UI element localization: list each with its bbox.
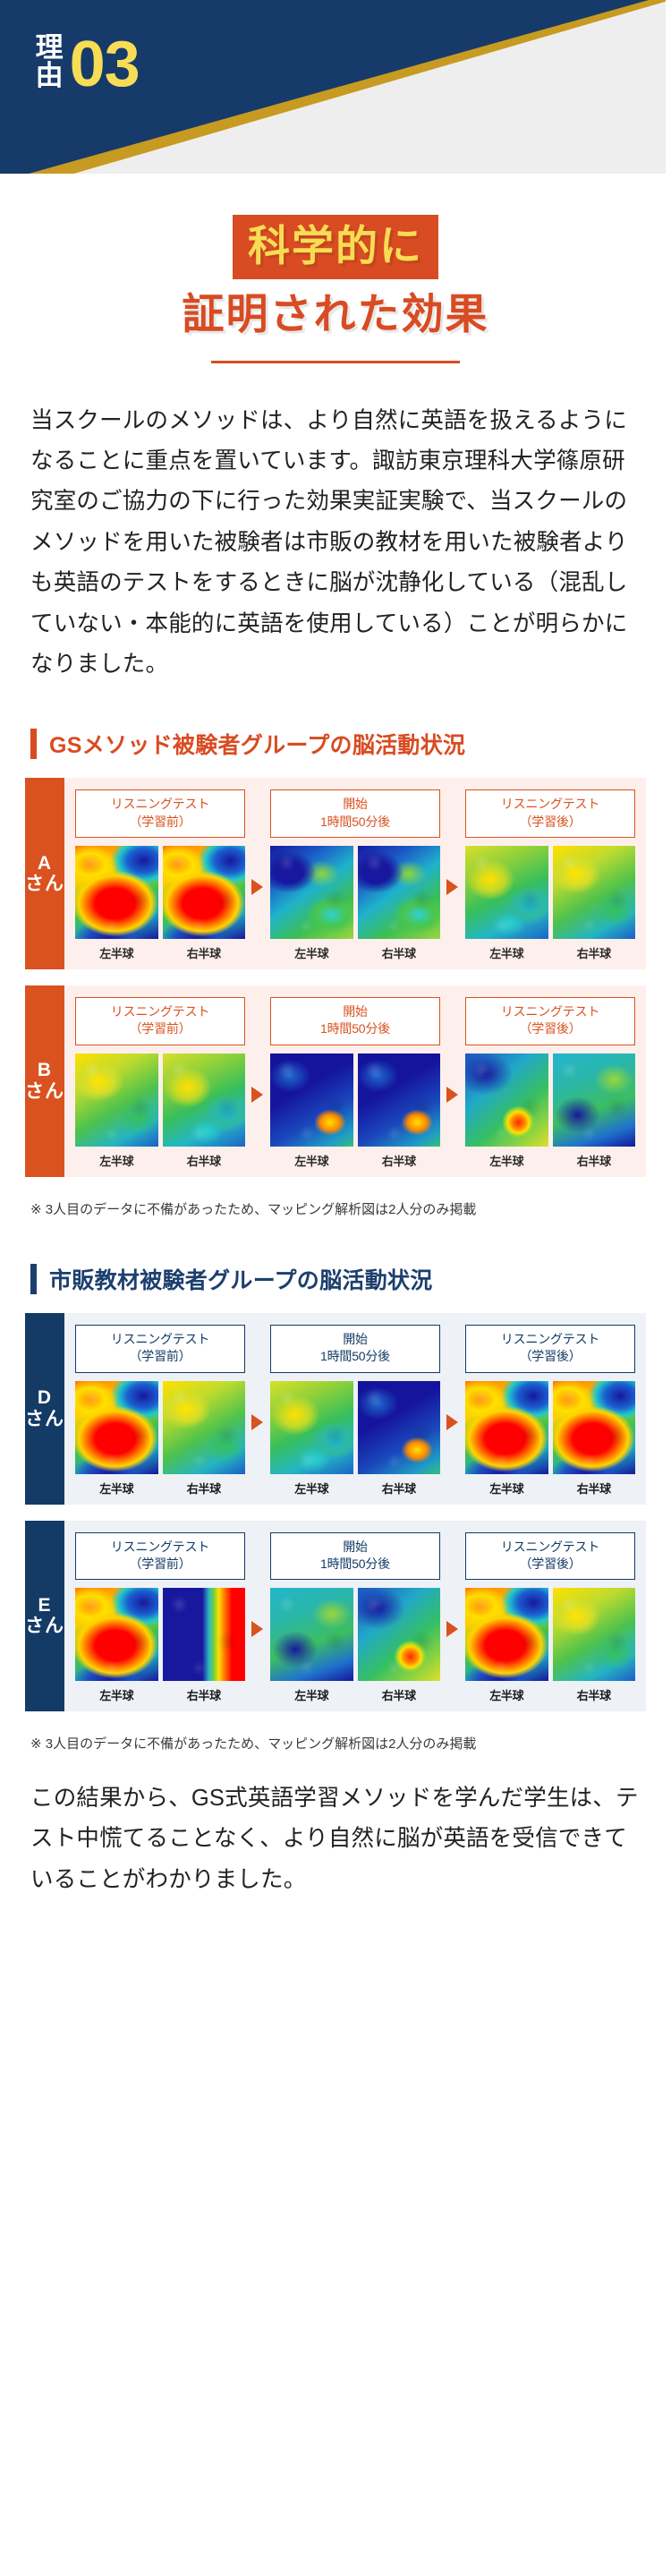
phase-label: 開始1時間50分後	[270, 1532, 440, 1581]
hemisphere-label: 左半球	[75, 944, 158, 961]
scan-left-hemisphere: 左半球	[270, 1588, 353, 1703]
phase-label: 開始1時間50分後	[270, 1325, 440, 1373]
subject-card: Bさんリスニングテスト（学習前）左半球右半球開始1時間50分後左半球右半球リスニ…	[25, 985, 646, 1177]
subject-suffix: さん	[25, 1081, 64, 1103]
progress-arrow-icon	[446, 1414, 459, 1430]
intro-paragraph: 当スクールのメソッドは、より自然に英語を扱えるようになることに重点を置いています…	[0, 401, 671, 686]
phase-label-line1: リスニングテスト	[501, 797, 599, 811]
scan-row: 左半球右半球	[270, 1381, 440, 1497]
reason-banner: 理由 03	[0, 0, 671, 195]
sections-root: GSメソッド被験者グループの脳活動状況Aさんリスニングテスト（学習前）左半球右半…	[0, 728, 671, 1755]
scan-right-hemisphere: 右半球	[163, 1053, 246, 1169]
progress-arrow-icon	[446, 1621, 459, 1637]
phase-column: リスニングテスト（学習前）左半球右半球	[75, 789, 245, 961]
scan-row: 左半球右半球	[465, 1053, 635, 1169]
title-subline: 証明された効果	[0, 291, 671, 337]
brain-heatmap-image	[358, 1053, 441, 1147]
scan-row: 左半球右半球	[270, 1053, 440, 1169]
hemisphere-label: 左半球	[75, 1686, 158, 1703]
hemisphere-label: 左半球	[465, 1686, 548, 1703]
scan-row: 左半球右半球	[75, 1053, 245, 1169]
title-highlight: 科学的に	[233, 215, 438, 279]
progress-arrow-icon	[446, 879, 459, 895]
subject-card-body: リスニングテスト（学習前）左半球右半球開始1時間50分後左半球右半球リスニングテ…	[64, 1521, 646, 1712]
banner-bottom-mask	[0, 174, 671, 195]
scan-right-hemisphere: 右半球	[358, 1588, 441, 1703]
section-footnote: ※ 3人目のデータに不備があったため、マッピング解析図は2人分のみ掲載	[0, 1193, 671, 1221]
scan-right-hemisphere: 右半球	[358, 846, 441, 961]
phase-label-line2: （学習後）	[520, 1349, 582, 1363]
hemisphere-label: 右半球	[163, 1152, 246, 1169]
subject-suffix: さん	[25, 1409, 64, 1430]
phase-column: リスニングテスト（学習前）左半球右半球	[75, 997, 245, 1169]
phase-label-line2: （学習前）	[130, 1021, 191, 1036]
hemisphere-label: 右半球	[163, 944, 246, 961]
scan-left-hemisphere: 左半球	[270, 846, 353, 961]
phase-label: リスニングテスト（学習前）	[75, 789, 245, 838]
phase-label-line1: 開始	[343, 797, 368, 811]
phase-label-line1: リスニングテスト	[501, 1004, 599, 1019]
scan-left-hemisphere: 左半球	[75, 1053, 158, 1169]
scan-row: 左半球右半球	[75, 846, 245, 961]
hemisphere-label: 右半球	[358, 1152, 441, 1169]
scan-right-hemisphere: 右半球	[358, 1381, 441, 1497]
phase-label-line1: リスニングテスト	[111, 1332, 209, 1346]
subject-card-body: リスニングテスト（学習前）左半球右半球開始1時間50分後左半球右半球リスニングテ…	[64, 778, 646, 969]
banner-right-mask	[666, 0, 671, 195]
subject-initial: D	[38, 1387, 52, 1409]
brain-heatmap-image	[270, 1381, 353, 1474]
scan-right-hemisphere: 右半球	[553, 846, 636, 961]
brain-heatmap-image	[553, 1053, 636, 1147]
subject-card-body: リスニングテスト（学習前）左半球右半球開始1時間50分後左半球右半球リスニングテ…	[64, 985, 646, 1177]
subject-card-zone: Aさんリスニングテスト（学習前）左半球右半球開始1時間50分後左半球右半球リスニ…	[0, 778, 671, 1176]
hemisphere-label: 左半球	[75, 1152, 158, 1169]
phase-label-line1: リスニングテスト	[111, 1540, 209, 1554]
brain-heatmap-image	[465, 1588, 548, 1681]
phase-label-line1: リスニングテスト	[501, 1540, 599, 1554]
progress-arrow-icon	[446, 1087, 459, 1103]
progress-arrow-icon	[251, 1087, 264, 1103]
hemisphere-label: 左半球	[270, 1152, 353, 1169]
subject-card: Dさんリスニングテスト（学習前）左半球右半球開始1時間50分後左半球右半球リスニ…	[25, 1313, 646, 1505]
phase-label-line2: （学習前）	[130, 1349, 191, 1363]
phase-column: リスニングテスト（学習前）左半球右半球	[75, 1325, 245, 1497]
scan-left-hemisphere: 左半球	[465, 846, 548, 961]
hemisphere-label: 左半球	[75, 1480, 158, 1497]
phase-label: 開始1時間50分後	[270, 789, 440, 838]
phase-column: リスニングテスト（学習後）左半球右半球	[465, 789, 635, 961]
brain-heatmap-image	[270, 846, 353, 939]
phase-column: リスニングテスト（学習後）左半球右半球	[465, 1532, 635, 1704]
brain-heatmap-image	[465, 1053, 548, 1147]
phase-label: リスニングテスト（学習前）	[75, 1325, 245, 1373]
scan-right-hemisphere: 右半球	[553, 1053, 636, 1169]
phase-column: リスニングテスト（学習後）左半球右半球	[465, 997, 635, 1169]
scan-row: 左半球右半球	[465, 1381, 635, 1497]
scan-row: 左半球右半球	[75, 1588, 245, 1703]
brain-heatmap-image	[465, 1381, 548, 1474]
brain-heatmap-image	[358, 1381, 441, 1474]
scan-row: 左半球右半球	[465, 1588, 635, 1703]
phase-label-line2: 1時間50分後	[320, 1021, 390, 1036]
outro-paragraph: この結果から、GS式英語学習メソッドを学んだ学生は、テスト中慌てることなく、より…	[0, 1778, 671, 1936]
brain-heatmap-image	[270, 1588, 353, 1681]
page-title: 科学的に 証明された効果	[0, 195, 671, 363]
brain-heatmap-image	[553, 846, 636, 939]
section-title: 市販教材被験者グループの脳活動状況	[49, 1263, 433, 1295]
scan-right-hemisphere: 右半球	[553, 1381, 636, 1497]
brain-heatmap-image	[163, 846, 246, 939]
phase-label: 開始1時間50分後	[270, 997, 440, 1045]
hemisphere-label: 右半球	[358, 1480, 441, 1497]
phase-label: リスニングテスト（学習前）	[75, 1532, 245, 1581]
phase-label: リスニングテスト（学習後）	[465, 1325, 635, 1373]
brain-heatmap-image	[270, 1053, 353, 1147]
hemisphere-label: 左半球	[270, 1686, 353, 1703]
subject-name-tab: Bさん	[25, 985, 64, 1177]
section-title: GSメソッド被験者グループの脳活動状況	[49, 728, 465, 760]
scan-row: 左半球右半球	[270, 846, 440, 961]
subject-initial: A	[38, 853, 52, 874]
scan-left-hemisphere: 左半球	[465, 1053, 548, 1169]
phase-label-line1: リスニングテスト	[111, 1004, 209, 1019]
scan-right-hemisphere: 右半球	[358, 1053, 441, 1169]
brain-heatmap-image	[75, 1381, 158, 1474]
reason-label: 理由	[32, 32, 61, 93]
phase-label-line1: 開始	[343, 1540, 368, 1554]
scan-left-hemisphere: 左半球	[270, 1053, 353, 1169]
section-heading: 市販教材被験者グループの脳活動状況	[0, 1263, 671, 1295]
phase-column: リスニングテスト（学習前）左半球右半球	[75, 1532, 245, 1704]
title-divider	[211, 361, 460, 363]
phase-label-line2: （学習後）	[520, 815, 582, 829]
phase-label-line2: （学習前）	[130, 1557, 191, 1571]
hemisphere-label: 右半球	[163, 1686, 246, 1703]
progress-arrow-icon	[251, 1621, 264, 1637]
brain-heatmap-image	[553, 1588, 636, 1681]
phase-label-line1: 開始	[343, 1004, 368, 1019]
section-footnote: ※ 3人目のデータに不備があったため、マッピング解析図は2人分のみ掲載	[0, 1727, 671, 1755]
subject-name-tab: Aさん	[25, 778, 64, 969]
phase-column: 開始1時間50分後左半球右半球	[270, 789, 440, 961]
hemisphere-label: 左半球	[270, 944, 353, 961]
scan-left-hemisphere: 左半球	[465, 1381, 548, 1497]
scan-row: 左半球右半球	[270, 1588, 440, 1703]
scan-right-hemisphere: 右半球	[163, 1381, 246, 1497]
scan-row: 左半球右半球	[465, 846, 635, 961]
phase-label-line2: 1時間50分後	[320, 1349, 390, 1363]
hemisphere-label: 右半球	[163, 1480, 246, 1497]
subject-suffix: さん	[25, 874, 64, 895]
progress-arrow-icon	[251, 1414, 264, 1430]
brain-heatmap-image	[465, 846, 548, 939]
brain-heatmap-image	[553, 1381, 636, 1474]
brain-heatmap-image	[75, 1588, 158, 1681]
phase-label: リスニングテスト（学習後）	[465, 1532, 635, 1581]
subject-card: Aさんリスニングテスト（学習前）左半球右半球開始1時間50分後左半球右半球リスニ…	[25, 778, 646, 969]
brain-heatmap-image	[163, 1381, 246, 1474]
scan-left-hemisphere: 左半球	[75, 1381, 158, 1497]
phase-column: 開始1時間50分後左半球右半球	[270, 1532, 440, 1704]
hemisphere-label: 右半球	[553, 1152, 636, 1169]
phase-label-line2: （学習後）	[520, 1557, 582, 1571]
phase-column: 開始1時間50分後左半球右半球	[270, 997, 440, 1169]
title-highlight-row: 科学的に	[0, 215, 671, 279]
phase-label-line2: 1時間50分後	[320, 1557, 390, 1571]
subject-card: Eさんリスニングテスト（学習前）左半球右半球開始1時間50分後左半球右半球リスニ…	[25, 1521, 646, 1712]
phase-label-line1: リスニングテスト	[501, 1332, 599, 1346]
section-accent-bar	[30, 1264, 37, 1294]
phase-label-line2: 1時間50分後	[320, 815, 390, 829]
scan-left-hemisphere: 左半球	[270, 1381, 353, 1497]
brain-heatmap-image	[75, 846, 158, 939]
phase-label-line2: （学習前）	[130, 815, 191, 829]
scan-right-hemisphere: 右半球	[553, 1588, 636, 1703]
hemisphere-label: 右半球	[358, 1686, 441, 1703]
phase-label: リスニングテスト（学習後）	[465, 789, 635, 838]
subject-card-zone: Dさんリスニングテスト（学習前）左半球右半球開始1時間50分後左半球右半球リスニ…	[0, 1313, 671, 1711]
phase-label: リスニングテスト（学習後）	[465, 997, 635, 1045]
hemisphere-label: 左半球	[465, 1480, 548, 1497]
hemisphere-label: 右半球	[553, 944, 636, 961]
subject-name-tab: Dさん	[25, 1313, 64, 1505]
hemisphere-label: 右半球	[553, 1686, 636, 1703]
phase-label: リスニングテスト（学習前）	[75, 997, 245, 1045]
progress-arrow-icon	[251, 879, 264, 895]
scan-left-hemisphere: 左半球	[465, 1588, 548, 1703]
hemisphere-label: 左半球	[270, 1480, 353, 1497]
subject-initial: B	[38, 1060, 52, 1081]
phase-label-line2: （学習後）	[520, 1021, 582, 1036]
phase-column: リスニングテスト（学習後）左半球右半球	[465, 1325, 635, 1497]
scan-right-hemisphere: 右半球	[163, 846, 246, 961]
scan-left-hemisphere: 左半球	[75, 846, 158, 961]
hemisphere-label: 左半球	[465, 944, 548, 961]
scan-left-hemisphere: 左半球	[75, 1588, 158, 1703]
subject-initial: E	[38, 1595, 51, 1616]
phase-label-line1: リスニングテスト	[111, 797, 209, 811]
brain-heatmap-image	[163, 1053, 246, 1147]
subject-suffix: さん	[25, 1616, 64, 1637]
scan-row: 左半球右半球	[75, 1381, 245, 1497]
subject-card-body: リスニングテスト（学習前）左半球右半球開始1時間50分後左半球右半球リスニングテ…	[64, 1313, 646, 1505]
section-accent-bar	[30, 729, 37, 759]
subject-name-tab: Eさん	[25, 1521, 64, 1712]
brain-heatmap-image	[75, 1053, 158, 1147]
scan-right-hemisphere: 右半球	[163, 1588, 246, 1703]
hemisphere-label: 右半球	[358, 944, 441, 961]
hemisphere-label: 右半球	[553, 1480, 636, 1497]
phase-label-line1: 開始	[343, 1332, 368, 1346]
reason-number: 03	[70, 37, 140, 93]
brain-heatmap-image	[358, 1588, 441, 1681]
hemisphere-label: 左半球	[465, 1152, 548, 1169]
banner-content: 理由 03	[32, 32, 140, 93]
phase-column: 開始1時間50分後左半球右半球	[270, 1325, 440, 1497]
brain-heatmap-image	[163, 1588, 246, 1681]
brain-heatmap-image	[358, 846, 441, 939]
section-heading: GSメソッド被験者グループの脳活動状況	[0, 728, 671, 760]
